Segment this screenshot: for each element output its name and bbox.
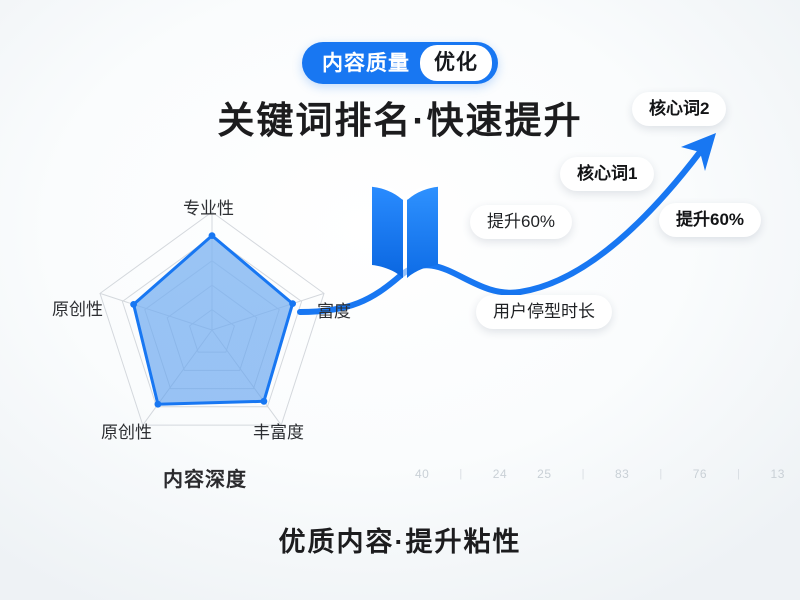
scale-value: 25 <box>537 467 551 481</box>
radar-axes <box>100 212 324 425</box>
callout-core-keyword-2[interactable]: 核心词2 <box>632 92 726 126</box>
scale-tick: | <box>737 468 740 480</box>
callout-core-keyword-1[interactable]: 核心词1 <box>560 157 654 191</box>
footer-caption: 优质内容·提升粘性 <box>0 520 800 559</box>
callout-dwell-time[interactable]: 用户停型时长 <box>476 295 612 329</box>
radar-label-top: 专业性 <box>183 200 234 217</box>
badge-main-label: 内容质量 <box>322 53 420 74</box>
open-book-icon <box>372 185 438 279</box>
radar-label-right: 富度 <box>317 303 351 320</box>
radar-data-area <box>134 236 293 405</box>
scale-value: 83 <box>615 467 629 481</box>
scale-value: 24 <box>493 467 507 481</box>
callout-uplift-left[interactable]: 提升60% <box>470 205 572 239</box>
scale-value: 40 <box>415 467 429 481</box>
radar-data-points <box>130 232 296 407</box>
faint-scale-row: 40 | 24 25 | 83 | 76 | 13 <box>415 467 785 481</box>
callout-uplift-right[interactable]: 提升60% <box>659 203 761 237</box>
radar-label-bottom-right: 丰富度 <box>253 424 304 441</box>
quality-badge[interactable]: 内容质量 优化 <box>302 42 498 84</box>
radar-label-left: 原创性 <box>52 301 103 318</box>
radar-label-bottom-left: 原创性 <box>101 424 152 441</box>
radar-caption: 内容深度 <box>163 463 247 492</box>
radar-grid <box>100 212 324 425</box>
scale-value: 13 <box>771 467 785 481</box>
scale-value: 76 <box>693 467 707 481</box>
scale-tick: | <box>459 468 462 480</box>
poster-canvas: 内容质量 优化 关键词排名·快速提升 核心词2 核心词1 提升60% 提升60%… <box>0 0 800 600</box>
scale-tick: | <box>659 468 662 480</box>
scale-tick: | <box>582 468 585 480</box>
badge-chip-label: 优化 <box>420 45 492 81</box>
